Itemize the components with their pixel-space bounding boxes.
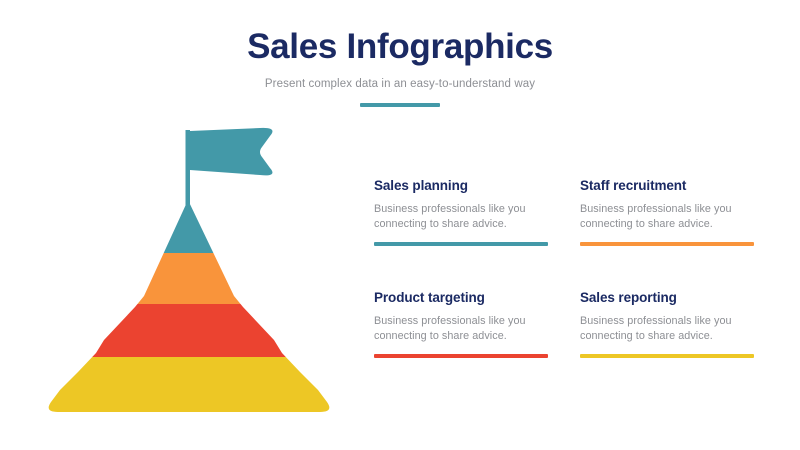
page-title: Sales Infographics	[0, 26, 800, 68]
mountain-graphic	[38, 122, 340, 412]
title-underline-rule	[360, 103, 440, 107]
card-body: Business professionals like you connecti…	[374, 202, 548, 231]
card-body: Business professionals like you connecti…	[374, 314, 548, 343]
card-sales-planning: Sales planning Business professionals li…	[374, 178, 548, 246]
card-underline-rule	[580, 242, 754, 246]
mountain-band-red	[38, 304, 340, 357]
card-body: Business professionals like you connecti…	[580, 202, 754, 231]
card-title: Staff recruitment	[580, 178, 754, 194]
card-body: Business professionals like you connecti…	[580, 314, 754, 343]
card-staff-recruitment: Staff recruitment Business professionals…	[580, 178, 754, 246]
card-title: Product targeting	[374, 290, 548, 306]
mountain-band-orange	[38, 253, 340, 304]
flag-pole-icon	[186, 130, 191, 206]
card-title: Sales reporting	[580, 290, 754, 306]
flag-icon	[190, 128, 272, 175]
card-title: Sales planning	[374, 178, 548, 194]
cards-grid: Sales planning Business professionals li…	[374, 178, 766, 358]
card-product-targeting: Product targeting Business professionals…	[374, 290, 548, 358]
mountain-band-yellow	[38, 357, 340, 412]
card-underline-rule	[580, 354, 754, 358]
card-underline-rule	[374, 354, 548, 358]
card-sales-reporting: Sales reporting Business professionals l…	[580, 290, 754, 358]
header: Sales Infographics Present complex data …	[0, 26, 800, 107]
page-subtitle: Present complex data in an easy-to-under…	[0, 77, 800, 91]
card-underline-rule	[374, 242, 548, 246]
slide-canvas: Sales Infographics Present complex data …	[0, 0, 800, 450]
